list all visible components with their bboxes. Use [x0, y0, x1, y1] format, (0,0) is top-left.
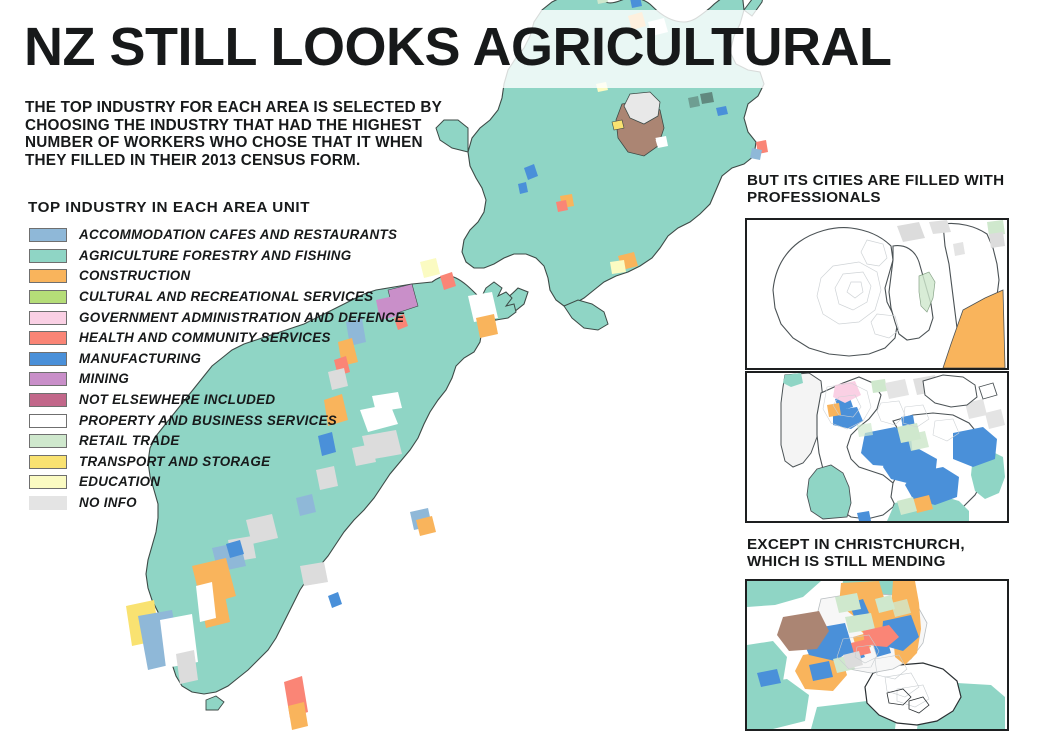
legend-swatch-icon	[29, 290, 67, 304]
wellington-patch-grey-4	[989, 232, 1005, 248]
north-island-patch-transport-1	[612, 120, 624, 130]
legend-item-label: CULTURAL AND RECREATIONAL SERVICES	[79, 290, 373, 304]
legend-swatch-icon	[29, 249, 67, 263]
legend-item-label: ACCOMMODATION CAFES AND RESTAURANTS	[79, 228, 397, 242]
subtitle-line: NUMBER OF WORKERS WHO CHOSE THAT IT WHEN	[25, 134, 485, 152]
legend-item-mining[interactable]: MINING	[25, 369, 425, 390]
legend-item-transport-and-storage[interactable]: TRANSPORT AND STORAGE	[25, 452, 425, 473]
legend-item-label: MINING	[79, 372, 129, 386]
cities-inset-heading: BUT ITS CITIES ARE FILLED WITH PROFESSIO…	[747, 172, 1037, 207]
legend-item-property-and-business-services[interactable]: PROPERTY AND BUSINESS SERVICES	[25, 410, 425, 431]
legend-swatch-icon	[29, 372, 67, 386]
south-island-patch-grey-9	[300, 562, 328, 586]
north-island-wellington-tip	[564, 300, 608, 330]
legend-swatch-icon	[29, 311, 67, 325]
north-island-east-cape	[744, 0, 766, 16]
inset-map-christchurch[interactable]	[745, 579, 1009, 731]
south-island-patch-construction-10	[476, 314, 498, 338]
legend-swatch-icon	[29, 414, 67, 428]
stewart-island-area	[206, 696, 224, 710]
poster-subtitle: THE TOP INDUSTRY FOR EACH AREA IS SELECT…	[25, 99, 485, 169]
north-island-patch-grey-2	[688, 96, 700, 108]
subtitle-line: THEY FILLED IN THEIR 2013 CENSUS FORM.	[25, 152, 485, 170]
legend-item-label: MANUFACTURING	[79, 352, 201, 366]
legend-item-cultural-and-recreational-services[interactable]: CULTURAL AND RECREATIONAL SERVICES	[25, 287, 425, 308]
legend-swatch-icon	[29, 475, 67, 489]
north-island-patch-accommodation-1	[750, 148, 762, 160]
legend-item-label: TRANSPORT AND STORAGE	[79, 455, 270, 469]
legend-item-label: NO INFO	[79, 496, 137, 510]
inset-map-wellington[interactable]	[745, 218, 1009, 370]
legend-title: TOP INDUSTRY IN EACH AREA UNIT	[28, 199, 425, 217]
infographic-poster: NZ STILL LOOKS AGRICULTURAL THE TOP INDU…	[0, 0, 1050, 742]
legend-swatch-icon	[29, 434, 67, 448]
subtitle-line: CHOOSING THE INDUSTRY THAT HAD THE HIGHE…	[25, 117, 485, 135]
legend-swatch-icon	[29, 269, 67, 283]
legend-item-government-administration-and-defence[interactable]: GOVERNMENT ADMINISTRATION AND DEFENCE	[25, 307, 425, 328]
legend-item-education[interactable]: EDUCATION	[25, 472, 425, 493]
legend-item-label: CONSTRUCTION	[79, 269, 190, 283]
legend-item-health-and-community-services[interactable]: HEALTH AND COMMUNITY SERVICES	[25, 328, 425, 349]
north-island-patch-education-2	[610, 260, 626, 274]
legend-swatch-icon	[29, 393, 67, 407]
legend-item-label: HEALTH AND COMMUNITY SERVICES	[79, 331, 331, 345]
legend-swatch-icon	[29, 496, 67, 510]
christchurch-inset-heading: EXCEPT IN CHRISTCHURCH, WHICH IS STILL M…	[747, 536, 1037, 571]
legend-item-label: GOVERNMENT ADMINISTRATION AND DEFENCE	[79, 311, 404, 325]
legend-item-accommodation-cafes-and-restaurants[interactable]: ACCOMMODATION CAFES AND RESTAURANTS	[25, 225, 425, 246]
legend-swatch-icon	[29, 331, 67, 345]
legend-item-not-elsewhere-included[interactable]: NOT ELSEWHERE INCLUDED	[25, 390, 425, 411]
map-legend: TOP INDUSTRY IN EACH AREA UNIT ACCOMMODA…	[25, 199, 425, 513]
legend-swatch-icon	[29, 352, 67, 366]
south-island-patch-manufacturing-7	[328, 592, 342, 608]
christchurch-inset-heading-line: WHICH IS STILL MENDING	[747, 553, 1037, 570]
legend-item-agriculture-forestry-and-fishing[interactable]: AGRICULTURE FORESTRY AND FISHING	[25, 246, 425, 267]
christchurch-inset-heading-line: EXCEPT IN CHRISTCHURCH,	[747, 536, 1037, 553]
north-island-patch-health-2	[556, 200, 568, 212]
legend-item-label: NOT ELSEWHERE INCLUDED	[79, 393, 275, 407]
auckland-patch-retail-5	[857, 423, 873, 437]
legend-item-label: AGRICULTURE FORESTRY AND FISHING	[79, 249, 351, 263]
cities-inset-heading-line: PROFESSIONALS	[747, 189, 1037, 206]
legend-item-label: RETAIL TRADE	[79, 434, 180, 448]
christchurch-banks-peninsula	[865, 663, 961, 725]
legend-item-retail-trade[interactable]: RETAIL TRADE	[25, 431, 425, 452]
page-title: NZ STILL LOOKS AGRICULTURAL	[24, 18, 891, 76]
legend-item-label: EDUCATION	[79, 475, 160, 489]
north-island-patch-grey-1	[700, 92, 714, 104]
cities-inset-heading-line: BUT ITS CITIES ARE FILLED WITH	[747, 172, 1037, 189]
legend-item-no-info[interactable]: NO INFO	[25, 493, 425, 514]
auckland-patch-retail-1	[871, 379, 887, 393]
legend-swatch-icon	[29, 455, 67, 469]
legend-item-manufacturing[interactable]: MANUFACTURING	[25, 349, 425, 370]
inset-map-auckland[interactable]	[745, 371, 1009, 523]
legend-item-construction[interactable]: CONSTRUCTION	[25, 266, 425, 287]
legend-item-label: PROPERTY AND BUSINESS SERVICES	[79, 414, 337, 428]
legend-swatch-icon	[29, 228, 67, 242]
wellington-patch-grey-3	[953, 242, 965, 256]
subtitle-line: THE TOP INDUSTRY FOR EACH AREA IS SELECT…	[25, 99, 485, 117]
